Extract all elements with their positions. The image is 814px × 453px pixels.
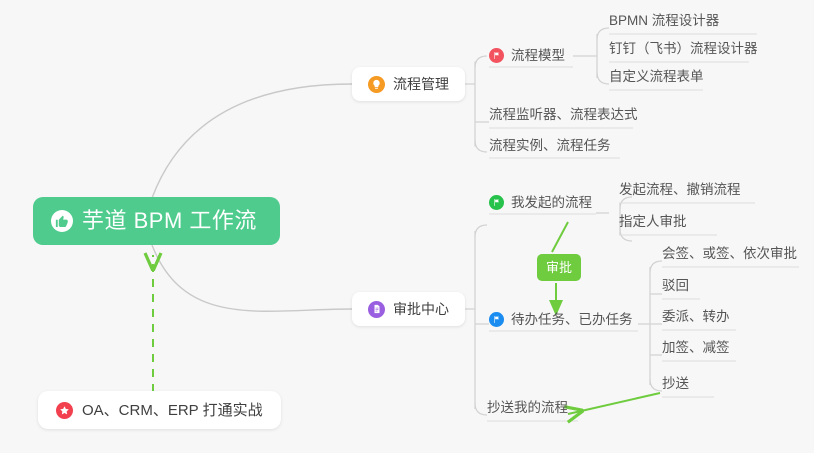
- flag-blue-icon: [489, 312, 504, 327]
- link-model-corner-bottom: [597, 72, 609, 84]
- link-model-corner-top: [597, 28, 609, 40]
- topic-label-todo-done-tasks: 待办任务、已办任务: [511, 313, 633, 327]
- leaf-node-initiate-cancel[interactable]: 发起流程、撤销流程: [619, 183, 741, 202]
- mindmap-canvas: 芋道 BPM 工作流 流程管理 流程模型 BPMN 流程设计器 钉钉（飞书）流程…: [0, 0, 814, 453]
- link-pm-corner-bottom: [475, 140, 487, 152]
- branch-node-process-management[interactable]: 流程管理: [352, 67, 465, 101]
- leaf-node-delegate-transfer[interactable]: 委派、转办: [662, 310, 730, 329]
- lightbulb-icon: [368, 76, 385, 93]
- topic-node-my-initiated-processes[interactable]: 我发起的流程: [489, 195, 592, 214]
- topic-label-my-initiated-processes: 我发起的流程: [511, 196, 592, 210]
- leaf-node-dingtalk-designer[interactable]: 钉钉（飞书）流程设计器: [609, 42, 758, 61]
- leaf-node-cc-my-processes[interactable]: 抄送我的流程: [487, 401, 568, 420]
- link-todo-corner-top: [650, 261, 662, 273]
- callout-label: OA、CRM、ERP 打通实战: [82, 403, 263, 418]
- branch-label-approval-center: 审批中心: [393, 302, 449, 316]
- branch-label-process-management: 流程管理: [393, 77, 449, 91]
- link-ac-corner-top: [475, 225, 487, 237]
- link-root-to-process-management: [152, 84, 352, 198]
- arrow-initiated-to-badge: [552, 222, 568, 252]
- leaf-node-bpmn-designer[interactable]: BPMN 流程设计器: [609, 14, 719, 33]
- flag-green-icon: [489, 195, 504, 210]
- branch-node-approval-center[interactable]: 审批中心: [352, 292, 465, 326]
- root-node[interactable]: 芋道 BPM 工作流: [33, 197, 280, 245]
- leaf-node-instance-task[interactable]: 流程实例、流程任务: [489, 139, 611, 158]
- topic-label-process-model: 流程模型: [511, 49, 565, 63]
- leaf-node-listener-expression[interactable]: 流程监听器、流程表达式: [489, 108, 638, 127]
- link-todo-corner-bottom: [650, 379, 662, 391]
- leaf-node-countersign[interactable]: 会签、或签、依次审批: [662, 247, 797, 266]
- topic-node-process-model[interactable]: 流程模型: [489, 48, 565, 67]
- leaf-node-add-remove-sign[interactable]: 加签、减签: [662, 341, 730, 360]
- thumbs-up-icon: [51, 210, 73, 232]
- document-icon: [368, 301, 385, 318]
- flag-red-icon: [489, 48, 504, 63]
- annotation-badge-approval: 审批: [537, 254, 581, 281]
- link-pm-corner-top: [475, 56, 487, 68]
- leaf-node-custom-form[interactable]: 自定义流程表单: [609, 70, 704, 89]
- star-icon: [56, 402, 73, 419]
- link-root-to-approval-center: [152, 245, 352, 311]
- leaf-node-carbon-copy[interactable]: 抄送: [662, 377, 689, 396]
- arrow-cc-to-cc-processes: [568, 393, 660, 414]
- link-ac-corner-bottom: [475, 403, 487, 415]
- topic-node-todo-done-tasks[interactable]: 待办任务、已办任务: [489, 312, 633, 331]
- leaf-node-assignee-approval[interactable]: 指定人审批: [619, 215, 687, 234]
- root-label: 芋道 BPM 工作流: [82, 210, 257, 232]
- callout-node-integration[interactable]: OA、CRM、ERP 打通实战: [38, 391, 281, 429]
- leaf-node-reject[interactable]: 驳回: [662, 279, 689, 298]
